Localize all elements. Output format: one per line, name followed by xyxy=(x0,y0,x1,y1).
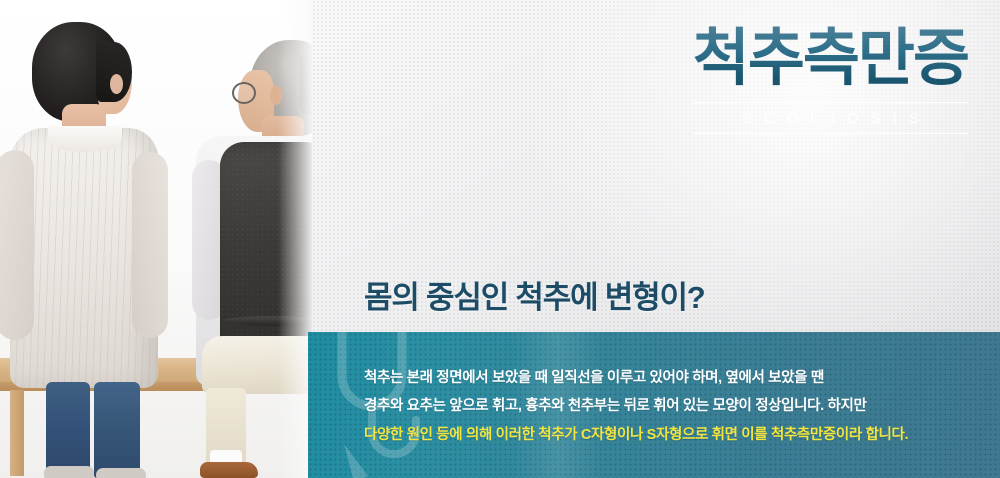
younger-man-collar xyxy=(48,126,122,152)
logo-subtitle-rules: SCOLIOSIS xyxy=(693,102,968,134)
older-man-ear xyxy=(270,86,282,105)
younger-man-jeans-left xyxy=(46,382,90,478)
scoliosis-banner: 척추측만증 SCOLIOSIS 몸의 중심인 척추에 변형이? 척추는 본래 정… xyxy=(0,0,1000,478)
description-line-2: 경추와 요추는 앞으로 휘고, 흉추와 천추부는 뒤로 휘어 있는 모양이 정상… xyxy=(364,392,980,420)
description-line-3-highlight: 다양한 원인 등에 의해 이러한 척추가 C자형이나 S자형으로 휘면 이를 척… xyxy=(364,421,980,449)
description-text: 척추는 본래 정면에서 보았을 때 일직선을 이루고 있어야 하며, 옆에서 보… xyxy=(364,364,980,449)
description-panel: 척추는 본래 정면에서 보았을 때 일직선을 이루고 있어야 하며, 옆에서 보… xyxy=(308,332,1000,478)
description-line-1: 척추는 본래 정면에서 보았을 때 일직선을 이루고 있어야 하며, 옆에서 보… xyxy=(364,364,980,392)
younger-man-jeans-right xyxy=(94,382,140,478)
older-man-glasses xyxy=(232,82,256,104)
logo-subtitle-latin: SCOLIOSIS xyxy=(693,110,968,127)
older-man-hair xyxy=(300,56,312,114)
younger-man-ear xyxy=(110,74,123,94)
scoliosis-logo: 척추측만증 SCOLIOSIS xyxy=(693,26,968,134)
bench-leg-left xyxy=(10,390,24,476)
younger-man-sleeve-right xyxy=(132,152,168,338)
younger-man-shoe-right xyxy=(96,468,146,478)
logo-title-korean: 척추측만증 xyxy=(693,26,968,93)
hero-photo xyxy=(0,0,312,478)
younger-man-shoe-left xyxy=(44,466,94,478)
younger-man-sleeve-left xyxy=(0,150,34,340)
older-man-shoe xyxy=(200,462,258,478)
headline: 몸의 중심인 척추에 변형이? xyxy=(364,272,705,317)
older-man-pants xyxy=(202,336,312,394)
older-man-vest-fold xyxy=(222,316,312,326)
